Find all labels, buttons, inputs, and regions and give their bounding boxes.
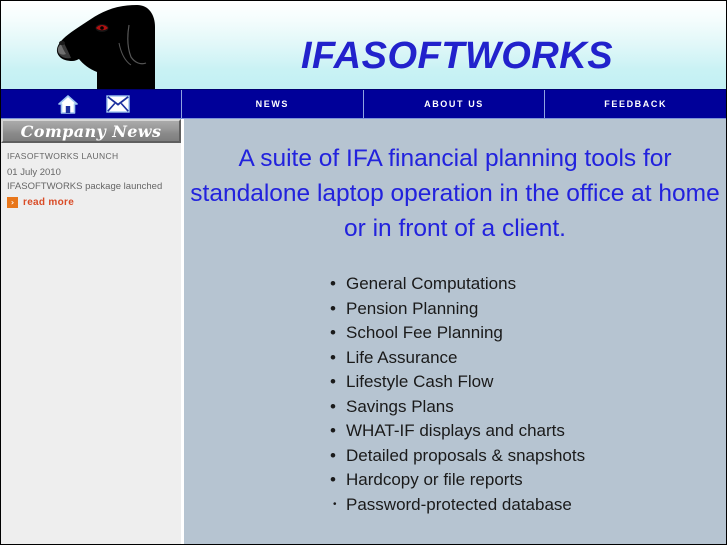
news-date: 01 July 2010 (7, 167, 175, 178)
feature-label: Savings Plans (346, 397, 454, 416)
main-headline: A suite of IFA financial planning tools … (184, 119, 726, 246)
list-item: WHAT-IF displays and charts (184, 419, 726, 444)
list-item: Life Assurance (184, 346, 726, 371)
feature-label: General Computations (346, 274, 516, 293)
page-title: IFASOFTWORKS (301, 35, 613, 78)
feature-label: School Fee Planning (346, 323, 503, 342)
sidebar: Company News IFASOFTWORKS LAUNCH 01 July… (1, 119, 181, 545)
site-header: IFASOFTWORKS (1, 1, 726, 89)
mail-icon[interactable] (101, 92, 135, 116)
read-more-link[interactable]: › read more (7, 197, 175, 208)
feature-label: Pension Planning (346, 299, 478, 318)
company-news-banner: Company News (1, 119, 181, 143)
nav-item-feedback[interactable]: FEEDBACK (544, 90, 726, 118)
main-navigation: NEWS ABOUT US FEEDBACK (1, 89, 726, 119)
list-item: Password-protected database (184, 493, 726, 518)
content-area: Company News IFASOFTWORKS LAUNCH 01 July… (1, 119, 726, 545)
feature-label: Hardcopy or file reports (346, 470, 523, 489)
list-item: General Computations (184, 272, 726, 297)
page-root: IFASOFTWORKS NEWS ABOUT US (0, 0, 727, 545)
read-more-label: read more (23, 197, 74, 208)
company-news-banner-label: Company News (21, 122, 162, 141)
dog-head-logo-icon (45, 3, 169, 89)
nav-item-news[interactable]: NEWS (181, 90, 363, 118)
feature-label: Life Assurance (346, 348, 458, 367)
nav-item-label: FEEDBACK (604, 99, 667, 109)
list-item: Detailed proposals & snapshots (184, 444, 726, 469)
news-item: IFASOFTWORKS LAUNCH 01 July 2010 IFASOFT… (1, 143, 181, 208)
list-item: Savings Plans (184, 395, 726, 420)
feature-list: General Computations Pension Planning Sc… (184, 272, 726, 517)
nav-item-about-us[interactable]: ABOUT US (363, 90, 545, 118)
home-icon[interactable] (51, 92, 85, 116)
list-item: Lifestyle Cash Flow (184, 370, 726, 395)
news-headline: IFASOFTWORKS LAUNCH (7, 151, 175, 161)
list-item: Pension Planning (184, 297, 726, 322)
news-description: IFASOFTWORKS package launched (7, 181, 175, 192)
feature-label: Detailed proposals & snapshots (346, 446, 585, 465)
feature-label: Lifestyle Cash Flow (346, 372, 493, 391)
nav-item-label: NEWS (256, 99, 289, 109)
main-panel: A suite of IFA financial planning tools … (184, 119, 726, 545)
feature-label: WHAT-IF displays and charts (346, 421, 565, 440)
chevron-right-icon: › (7, 197, 18, 208)
nav-icon-group (1, 90, 181, 118)
list-item: Hardcopy or file reports (184, 468, 726, 493)
nav-item-label: ABOUT US (424, 99, 484, 109)
list-item: School Fee Planning (184, 321, 726, 346)
feature-label: Password-protected database (346, 495, 572, 514)
